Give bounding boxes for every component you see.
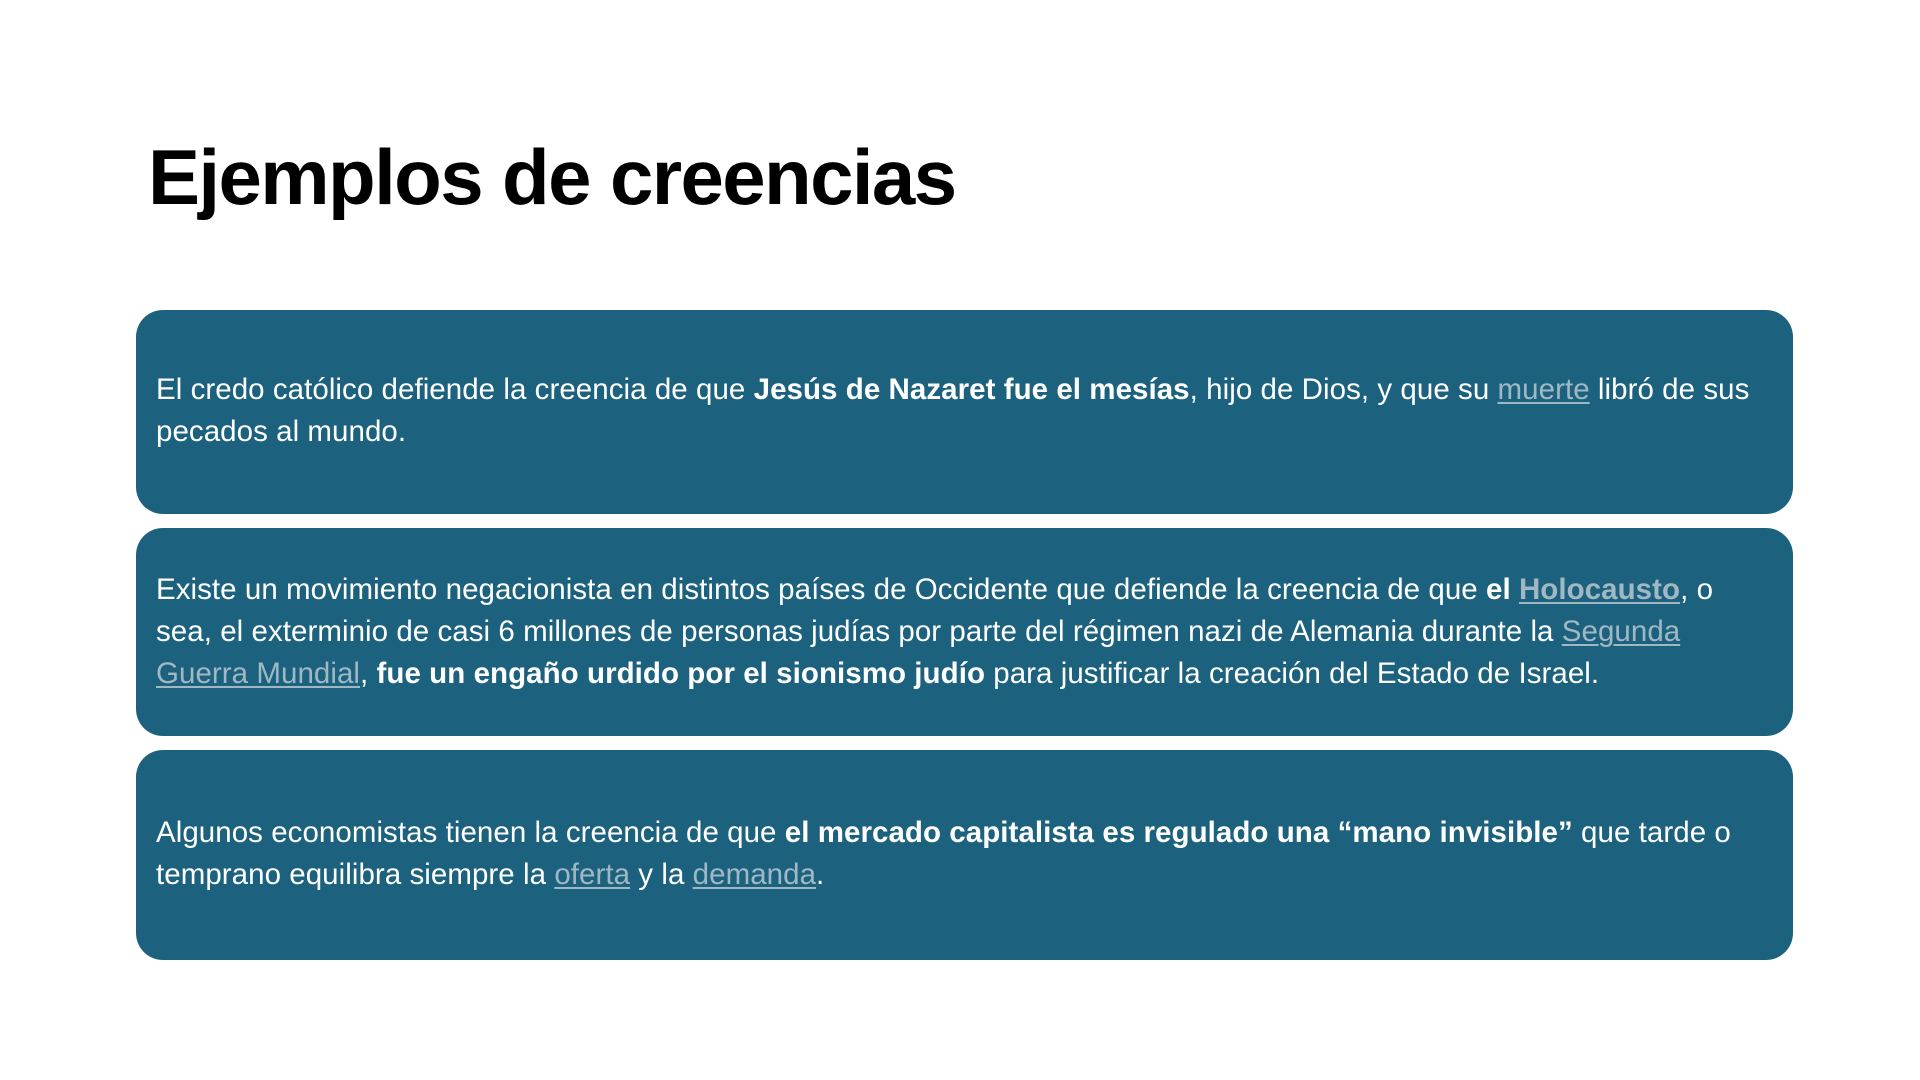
emphasis-text: Jesús de Nazaret fue el mesías	[754, 373, 1190, 406]
card-body-text: Algunos economistas tienen la creencia d…	[156, 812, 1773, 898]
body-text: para justificar la creación del Estado d…	[985, 657, 1599, 690]
cards-container: El credo católico defiende la creencia d…	[136, 310, 1793, 960]
inline-link[interactable]: Holocausto	[1519, 573, 1680, 606]
body-text: .	[816, 858, 824, 891]
inline-link[interactable]: muerte	[1498, 373, 1590, 406]
page-title: Ejemplos de creencias	[148, 138, 956, 216]
body-text: Existe un movimiento negacionista en dis…	[156, 573, 1486, 606]
body-text: ,	[360, 657, 377, 690]
inline-link[interactable]: demanda	[693, 858, 816, 891]
inline-link[interactable]: oferta	[554, 858, 630, 891]
belief-card-holocausto[interactable]: Existe un movimiento negacionista en dis…	[136, 528, 1793, 736]
body-text: y la	[630, 858, 693, 891]
card-body-text: El credo católico defiende la creencia d…	[156, 369, 1773, 455]
slide-root: Ejemplos de creencias El credo católico …	[0, 0, 1920, 1080]
emphasis-text: fue un engaño urdido por el sionismo jud…	[377, 657, 985, 690]
belief-card-mano-invisible[interactable]: Algunos economistas tienen la creencia d…	[136, 750, 1793, 960]
emphasis-text: el mercado capitalista es regulado una “…	[785, 816, 1573, 849]
emphasis-text: el	[1486, 573, 1519, 606]
belief-card-catolico[interactable]: El credo católico defiende la creencia d…	[136, 310, 1793, 514]
body-text: Algunos economistas tienen la creencia d…	[156, 816, 785, 849]
body-text: , hijo de Dios, y que su	[1190, 373, 1498, 406]
body-text: El credo católico defiende la creencia d…	[156, 373, 754, 406]
card-body-text: Existe un movimiento negacionista en dis…	[156, 569, 1773, 695]
